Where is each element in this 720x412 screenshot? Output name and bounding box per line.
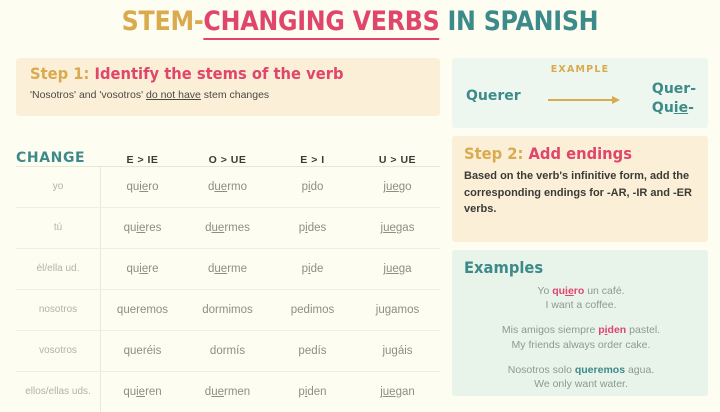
- table-conjugation-cell: queremos: [100, 304, 185, 316]
- example-stem-2-post: -: [688, 100, 694, 116]
- table-corner-header: CHANGE: [16, 150, 100, 166]
- table-pronoun-cell: ellos/ellas uds.: [16, 386, 100, 398]
- table-conjugation-cell: pide: [270, 263, 355, 275]
- example-stem-2-pre: Qu: [652, 100, 674, 116]
- table-conjugation-cell: pedís: [270, 345, 355, 357]
- example-spanish: Yo quiero un café.: [464, 284, 698, 298]
- conjugation-table: CHANGE E > IE O > UE E > I U > UE yoquie…: [16, 142, 440, 412]
- table-pronoun-cell: tú: [16, 222, 100, 234]
- example-item: Mis amigos siempre piden pastel.My frien…: [464, 323, 698, 351]
- table-conjugation-cell: quieren: [100, 386, 185, 398]
- table-conjugation-cell: duermen: [185, 386, 270, 398]
- arrow-right-icon: [548, 96, 624, 104]
- table-column-divider: [100, 290, 101, 330]
- table-conjugation-cell: quieres: [100, 222, 185, 234]
- table-conjugation-cell: juegas: [355, 222, 440, 234]
- table-row: él/ella ud.quiereduermepidejuega: [16, 249, 440, 290]
- table-header-row: CHANGE E > IE O > UE E > I U > UE: [16, 142, 440, 167]
- table-col-header-1: O > UE: [185, 154, 270, 166]
- title-part-in-spanish: IN SPANISH: [439, 6, 598, 37]
- table-pronoun-cell: él/ella ud.: [16, 263, 100, 275]
- table-conjugation-cell: duermo: [185, 181, 270, 193]
- example-label: EXAMPLE: [452, 64, 708, 75]
- example-infinitive: Querer: [466, 88, 521, 104]
- example-highlighted-verb: piden: [598, 324, 626, 336]
- table-column-divider: [100, 208, 101, 248]
- table-row: nosotrosqueremosdormimospedimosjugamos: [16, 290, 440, 331]
- table-col-header-0: E > IE: [100, 154, 185, 166]
- example-stem-2-mark: ie: [674, 100, 688, 116]
- table-col-header-3: U > UE: [355, 154, 440, 166]
- table-conjugation-cell: pides: [270, 222, 355, 234]
- step1-title: Identify the stems of the verb: [89, 64, 343, 83]
- step1-number: Step 1:: [30, 64, 89, 83]
- step1-subtext: 'Nosotros' and 'vosotros' do not have st…: [30, 89, 426, 101]
- example-english: I want a coffee.: [464, 298, 698, 312]
- table-conjugation-cell: dormimos: [185, 304, 270, 316]
- table-column-divider: [100, 372, 101, 412]
- example-spanish: Nosotros solo queremos agua.: [464, 363, 698, 377]
- table-conjugation-cell: quiere: [100, 263, 185, 275]
- examples-heading: Examples: [464, 258, 679, 277]
- title-part-stem: STEM-: [122, 6, 204, 37]
- example-highlighted-verb: queremos: [575, 364, 625, 376]
- example-box: EXAMPLE Querer Quer- Quie-: [452, 58, 708, 128]
- table-body: yoquieroduermopidojuegotúquieresduermesp…: [16, 167, 440, 412]
- table-conjugation-cell: duerme: [185, 263, 270, 275]
- table-column-divider: [100, 331, 101, 371]
- example-english: My friends always order cake.: [464, 338, 698, 352]
- example-item: Nosotros solo queremos agua.We only want…: [464, 363, 698, 391]
- table-pronoun-cell: nosotros: [16, 304, 100, 316]
- example-english: We only want water.: [464, 377, 698, 391]
- step1-box: Step 1: Identify the stems of the verb '…: [16, 58, 440, 116]
- step2-heading: Step 2: Add endings: [464, 144, 677, 163]
- step2-title: Add endings: [523, 144, 632, 163]
- table-conjugation-cell: jugáis: [355, 345, 440, 357]
- table-conjugation-cell: dormís: [185, 345, 270, 357]
- example-highlighted-verb: quiero: [552, 285, 584, 297]
- title-part-changing-verbs: CHANGING VERBS: [203, 6, 439, 40]
- table-row: vosotrosqueréisdormíspedísjugáis: [16, 331, 440, 372]
- table-row: túquieresduermespidesjuegas: [16, 208, 440, 249]
- table-column-divider: [100, 167, 101, 207]
- table-conjugation-cell: quiero: [100, 181, 185, 193]
- step1-heading: Step 1: Identify the stems of the verb: [30, 64, 394, 83]
- step1-sub-after: stem changes: [201, 89, 269, 101]
- examples-list: Yo quiero un café.I want a coffee.Mis am…: [464, 284, 698, 391]
- page-title: STEM-CHANGING VERBS IN SPANISH: [43, 6, 677, 37]
- table-conjugation-cell: juega: [355, 263, 440, 275]
- examples-panel: Examples Yo quiero un café.I want a coff…: [452, 250, 708, 396]
- table-col-header-2: E > I: [270, 154, 355, 166]
- step1-sub-before: 'Nosotros' and 'vosotros': [30, 89, 146, 101]
- step2-body: Based on the verb's infinitive form, add…: [464, 168, 696, 218]
- step2-number: Step 2:: [464, 144, 523, 163]
- example-item: Yo quiero un café.I want a coffee.: [464, 284, 698, 312]
- infographic-page: STEM-CHANGING VERBS IN SPANISH Step 1: I…: [0, 0, 720, 404]
- step2-box: Step 2: Add endings Based on the verb's …: [452, 136, 708, 242]
- table-row: ellos/ellas uds.quierenduermenpidenjuega…: [16, 372, 440, 412]
- table-column-divider: [100, 249, 101, 289]
- table-conjugation-cell: piden: [270, 386, 355, 398]
- table-conjugation-cell: pido: [270, 181, 355, 193]
- table-conjugation-cell: queréis: [100, 345, 185, 357]
- example-stems: Quer- Quie-: [652, 80, 696, 118]
- step1-sub-underline: do not have: [146, 89, 201, 101]
- example-stem-1: Quer-: [652, 80, 696, 99]
- table-conjugation-cell: duermes: [185, 222, 270, 234]
- table-pronoun-cell: yo: [16, 181, 100, 193]
- table-conjugation-cell: juego: [355, 181, 440, 193]
- table-conjugation-cell: juegan: [355, 386, 440, 398]
- table-conjugation-cell: pedimos: [270, 304, 355, 316]
- table-conjugation-cell: jugamos: [355, 304, 440, 316]
- example-spanish: Mis amigos siempre piden pastel.: [464, 323, 698, 337]
- example-stem-2: Quie-: [652, 99, 696, 118]
- table-row: yoquieroduermopidojuego: [16, 167, 440, 208]
- table-pronoun-cell: vosotros: [16, 345, 100, 357]
